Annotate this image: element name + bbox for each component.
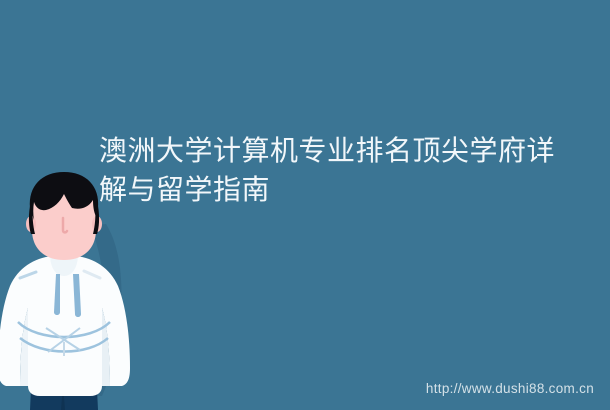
promo-banner: 澳洲大学计算机专业排名顶尖学府详解与留学指南 http://www.dushi8… bbox=[0, 0, 610, 410]
headline-text: 澳洲大学计算机专业排名顶尖学府详解与留学指南 bbox=[99, 131, 569, 209]
watermark-url: http://www.dushi88.com.cn bbox=[426, 381, 594, 396]
hoodie-group bbox=[0, 254, 130, 396]
